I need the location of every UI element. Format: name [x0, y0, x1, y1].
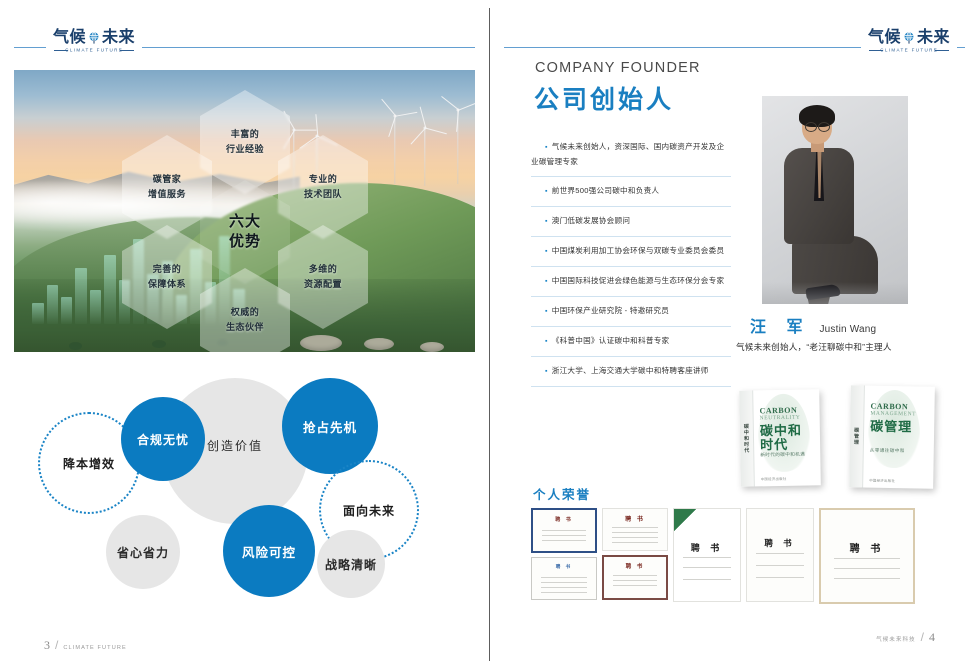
- bubble-compliance: 合规无忧: [121, 397, 205, 481]
- hex-line-2: 行业经验: [226, 144, 264, 155]
- certificate-column: 聘 书 聘 书: [602, 508, 668, 600]
- certificate-title: 聘 书: [764, 537, 795, 549]
- founder-portrait-photo: [762, 96, 908, 304]
- page-title: 公司创始人: [534, 80, 674, 116]
- footer-slash: /: [921, 630, 924, 644]
- hex-line-2: 生态伙伴: [226, 322, 264, 333]
- book-cn-title: 碳管理: [870, 420, 912, 434]
- credential-text: 前世界500强公司碳中和负责人: [531, 184, 731, 199]
- credential-text: 浙江大学、上海交通大学碳中和特聘客座讲师: [531, 364, 731, 379]
- logo-wordmark: 气候 未来: [868, 30, 950, 46]
- certificate-title: 聘 书: [625, 514, 645, 523]
- book-cover: 碳中和时代 CARBON NEUTRALITY 碳中和 时代 新时代的碳中和机遇…: [739, 389, 821, 486]
- certificates-gallery: 聘 书 聘 书 聘 书 聘 书 聘 书: [531, 508, 955, 600]
- footer-label: CLIMATE FUTURE: [63, 645, 126, 651]
- list-item: 浙江大学、上海交通大学碳中和特聘客座讲师: [531, 357, 731, 387]
- published-books: 碳中和时代 CARBON NEUTRALITY 碳中和 时代 新时代的碳中和机遇…: [740, 386, 945, 490]
- bubble-label: 风险可控: [242, 542, 296, 561]
- book-subtitle: 从零通往碳中和: [870, 448, 905, 455]
- credential-text: 中国环保产业研究院 - 特邀研究员: [531, 304, 731, 319]
- book-cover: 碳管理 CARBON MANAGEMENT 碳管理 从零通往碳中和 中国经济出版…: [849, 385, 935, 488]
- logo-text-left: 气候: [868, 30, 901, 46]
- logo-subtitle: CLIMATE FUTURE: [869, 48, 949, 52]
- credential-text: 《科普中国》认证碳中和科普专家: [531, 334, 731, 349]
- bubble-risk-control: 风险可控: [223, 505, 315, 597]
- book-en-line-2: NEUTRALITY: [760, 415, 801, 422]
- certificate-thumbnail: 聘 书: [746, 508, 814, 602]
- bubble-label: 面向未来: [343, 502, 395, 519]
- book-cn-line-1: 碳管理: [870, 419, 912, 435]
- logo-text-right: 未来: [102, 30, 135, 46]
- founder-name-en: Justin Wang: [819, 324, 876, 335]
- book-spine-title: 碳管理: [849, 385, 865, 487]
- credential-text: 中国国际科技促进会绿色能源与生态环保分会专家: [531, 274, 731, 289]
- list-item: 前世界500强公司碳中和负责人: [531, 177, 731, 207]
- list-item: 澳门低碳发展协会顾问: [531, 207, 731, 237]
- honors-section-title: 个人荣誉: [533, 484, 591, 503]
- bubble-label: 降本增效: [63, 455, 115, 472]
- logo-text-left: 气候: [53, 30, 86, 46]
- book-cn-line-2: 时代: [760, 437, 788, 452]
- founder-name-row: 汪 军 Justin Wang: [750, 313, 876, 337]
- left-page-footer: 3 / CLIMATE FUTURE: [44, 638, 127, 653]
- right-page-header: 气候 未来 CLIMATE FUTURE: [504, 30, 965, 64]
- hex-center-line-1: 六大: [229, 213, 261, 232]
- bubble-label: 抢占先机: [303, 417, 357, 436]
- certificate-title: 聘 书: [626, 562, 645, 570]
- glasses-icon: [805, 122, 830, 130]
- founder-name-cn: 汪 军: [750, 313, 810, 337]
- hex-line-1: 完善的: [153, 264, 182, 275]
- hex-line-1: 多维的: [309, 264, 338, 275]
- logo-text-right: 未来: [917, 30, 950, 46]
- founder-credentials-list: 气候未来创始人，资深国际、国内碳资产开发及企业碳管理专家 前世界500强公司碳中…: [531, 138, 731, 387]
- bubble-label: 省心省力: [117, 544, 169, 561]
- credential-text: 澳门低碳发展协会顾问: [531, 214, 731, 229]
- hexagon-item-2: 专业的 技术团队: [278, 135, 368, 239]
- hex-line-1: 丰富的: [231, 129, 260, 140]
- book-cn-title: 碳中和 时代: [760, 424, 802, 452]
- hero-image-six-advantages: 丰富的 行业经验 碳管家 增值服务 专业的 技术团队 六大 优势: [14, 70, 475, 352]
- book-subtitle: 新时代的碳中和机遇: [760, 452, 805, 459]
- bubble-label: 战略清晰: [325, 556, 377, 573]
- hex-line-1: 专业的: [309, 174, 338, 185]
- hex-line-1: 权威的: [231, 307, 260, 318]
- hexagon-cluster: 丰富的 行业经验 碳管家 增值服务 专业的 技术团队 六大 优势: [14, 70, 475, 352]
- portrait-floor-shadow: [762, 282, 908, 304]
- list-item: 中国煤炭利用加工协会环保与双碳专业委员会委员: [531, 237, 731, 267]
- hex-line-1: 碳管家: [153, 174, 182, 185]
- credential-text: 气候未来创始人，资深国际、国内碳资产开发及企业碳管理专家: [531, 140, 731, 169]
- hexagon-item-0: 丰富的 行业经验: [200, 90, 290, 194]
- globe-leaf-icon: [87, 31, 101, 45]
- section-kicker: COMPANY FOUNDER: [535, 60, 701, 76]
- left-page-header: 气候 未来 CLIMATE FUTURE: [14, 30, 475, 64]
- bubble-effortless: 省心省力: [106, 515, 180, 589]
- hex-line-2: 增值服务: [148, 189, 186, 200]
- value-bubble-diagram: 创造价值 降本增效 合规无忧 抢占先机 面向未来 省心省力 风险可控 战略清晰: [14, 368, 475, 618]
- founder-description: 气候未来创始人，“老汪聊碳中和”主理人: [736, 341, 892, 353]
- bubble-label: 合规无忧: [137, 431, 189, 448]
- certificate-title: 聘 书: [555, 516, 572, 523]
- page-number: 3: [44, 638, 50, 653]
- list-item: 气候未来创始人，资深国际、国内碳资产开发及企业碳管理专家: [531, 138, 731, 177]
- hex-line-2: 保障体系: [148, 279, 186, 290]
- bubble-label: 创造价值: [207, 437, 263, 454]
- certificate-title: 聘 书: [556, 564, 572, 570]
- footer-slash: /: [55, 638, 58, 652]
- footer-label: 气候未来科技: [876, 635, 916, 643]
- logo-subtitle-text: CLIMATE FUTURE: [65, 48, 123, 53]
- brand-logo: 气候 未来 CLIMATE FUTURE: [861, 30, 957, 52]
- hex-line-2: 资源配置: [304, 279, 342, 290]
- page-number: 4: [929, 630, 935, 645]
- globe-leaf-icon: [902, 31, 916, 45]
- book-en-line-2: MANAGEMENT: [870, 411, 916, 418]
- certificate-thumbnail: 聘 书: [673, 508, 741, 602]
- certificate-thumbnail: 聘 书: [819, 508, 915, 604]
- hexagon-item-3: 完善的 保障体系: [122, 225, 212, 329]
- list-item: 《科普中国》认证碳中和科普专家: [531, 327, 731, 357]
- logo-subtitle: CLIMATE FUTURE: [54, 48, 134, 52]
- logo-subtitle-text: CLIMATE FUTURE: [880, 48, 938, 53]
- logo-wordmark: 气候 未来: [53, 30, 135, 46]
- bubble-clear-strategy: 战略清晰: [317, 530, 385, 598]
- hex-line-2: 技术团队: [304, 189, 342, 200]
- certificate-thumbnail: 聘 书: [602, 555, 668, 600]
- certificate-title: 聘 书: [691, 541, 724, 554]
- certificate-thumbnail: 聘 书: [602, 508, 668, 551]
- list-item: 中国国际科技促进会绿色能源与生态环保分会专家: [531, 267, 731, 297]
- brand-logo: 气候 未来 CLIMATE FUTURE: [46, 30, 142, 52]
- book-publisher: 中国经济出版社: [869, 478, 895, 483]
- hexagon-item-1: 碳管家 增值服务: [122, 135, 212, 239]
- book-publisher: 中国经济出版社: [761, 476, 787, 481]
- certificate-thumbnail: 聘 书: [531, 508, 597, 553]
- brochure-spread: 气候 未来 CLIMATE FUTURE: [0, 0, 979, 669]
- hexagon-item-5: 权威的 生态伙伴: [200, 268, 290, 352]
- certificate-thumbnail: 聘 书: [531, 557, 597, 600]
- certificate-title: 聘 书: [850, 540, 885, 555]
- credential-text: 中国煤炭利用加工协会环保与双碳专业委员会委员: [531, 244, 731, 259]
- hexagon-item-4: 多维的 资源配置: [278, 225, 368, 329]
- portrait-figure: [762, 96, 908, 304]
- certificate-column: 聘 书 聘 书: [531, 508, 597, 600]
- book-spine-title: 碳中和时代: [739, 390, 755, 486]
- hex-center-line-2: 优势: [229, 233, 261, 252]
- right-page-footer: 气候未来科技 / 4: [876, 630, 935, 645]
- left-page: 气候 未来 CLIMATE FUTURE: [0, 8, 489, 661]
- list-item: 中国环保产业研究院 - 特邀研究员: [531, 297, 731, 327]
